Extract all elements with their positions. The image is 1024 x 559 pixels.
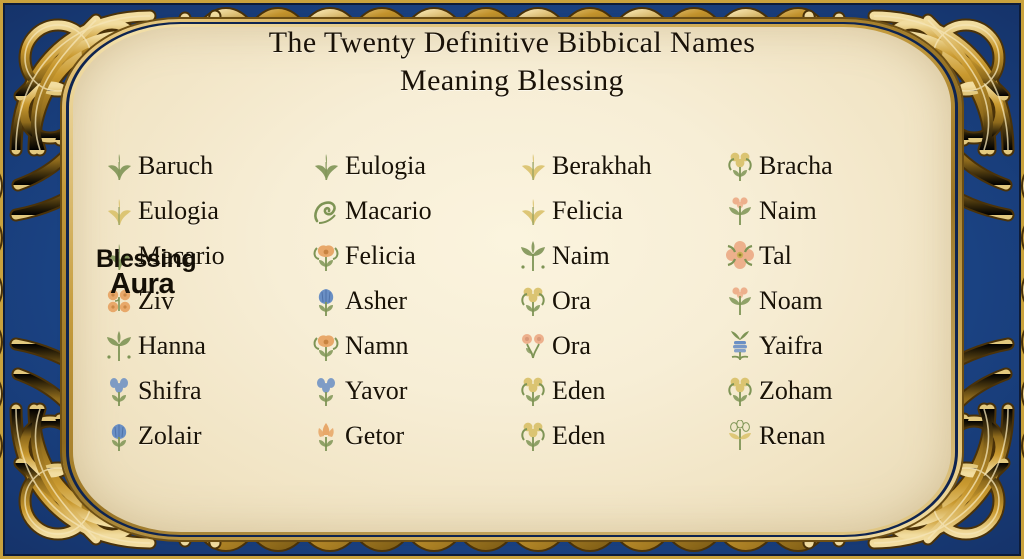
- scroll-leaf-green-icon: [311, 195, 341, 227]
- name-label: Eulogia: [345, 151, 426, 181]
- name-entry: Berakhah: [512, 143, 719, 188]
- title-line-2: Meaning Blessing: [0, 62, 1024, 100]
- blue-tulip-icon: [311, 285, 341, 317]
- gold-bloom-icon: [725, 150, 755, 182]
- name-entry: Tal: [719, 233, 926, 278]
- leaf-sprig-gold-icon: [518, 150, 548, 182]
- thistle-green-icon: [104, 330, 134, 362]
- name-entry: Asher: [305, 278, 512, 323]
- leaf-sprig-green-icon: [104, 150, 134, 182]
- blue-tulip-icon: [104, 420, 134, 452]
- pink-carnation-icon: [725, 285, 755, 317]
- name-label: Naim: [759, 196, 817, 226]
- name-entry: Eulogia: [98, 188, 305, 233]
- name-label: Ora: [552, 286, 591, 316]
- name-entry: Ora: [512, 278, 719, 323]
- leaf-sprig-green-icon: [311, 150, 341, 182]
- bellflower-pale-icon: [311, 375, 341, 407]
- rose-pair-pink-icon: [518, 330, 548, 362]
- name-label: Noam: [759, 286, 823, 316]
- name-entry: Felicia: [305, 233, 512, 278]
- gold-bloom-icon: [518, 285, 548, 317]
- name-entry: Namn: [305, 323, 512, 368]
- name-entry: Shifra: [98, 368, 305, 413]
- name-entry: Yaifra: [719, 323, 926, 368]
- thistle-green-icon: [518, 240, 548, 272]
- peach-rosette-icon: [725, 240, 755, 272]
- name-entry: Bracha: [719, 143, 926, 188]
- name-entry: Hanna: [98, 323, 305, 368]
- name-entry: Macario: [305, 188, 512, 233]
- orange-bloom-icon: [311, 240, 341, 272]
- name-entry: Yavor: [305, 368, 512, 413]
- name-label: Zolair: [138, 421, 202, 451]
- name-label: Baruch: [138, 151, 213, 181]
- name-entry: Ora: [512, 323, 719, 368]
- orange-bloom-icon: [311, 330, 341, 362]
- leaf-sprig-gold-icon: [104, 195, 134, 227]
- orange-lily-icon: [311, 420, 341, 452]
- white-bellflower-icon: [725, 420, 755, 452]
- name-label: Eden: [552, 376, 605, 406]
- name-label: Zoham: [759, 376, 833, 406]
- name-label: Namn: [345, 331, 409, 361]
- name-label: Hanna: [138, 331, 206, 361]
- name-label: Macario: [345, 196, 432, 226]
- bellflower-pale-icon: [104, 375, 134, 407]
- pink-carnation-icon: [725, 195, 755, 227]
- name-entry: Zolair: [98, 413, 305, 458]
- name-label: Asher: [345, 286, 407, 316]
- name-entry: Eden: [512, 368, 719, 413]
- name-entry: Naim: [512, 233, 719, 278]
- name-entry: Noam: [719, 278, 926, 323]
- poster-canvas: The Twenty Definitive Bibbical Names Mea…: [0, 0, 1024, 559]
- name-label: Berakhah: [552, 151, 652, 181]
- blue-banded-bud-icon: [725, 330, 755, 362]
- name-label: Shifra: [138, 376, 202, 406]
- leaf-sprig-gold-icon: [518, 195, 548, 227]
- name-entry: Getor: [305, 413, 512, 458]
- poster-title: The Twenty Definitive Bibbical Names Mea…: [0, 24, 1024, 100]
- watermark-blessing-aura: Blessing Aura: [96, 248, 196, 298]
- name-entry: Renan: [719, 413, 926, 458]
- name-entry: Naim: [719, 188, 926, 233]
- name-label: Ora: [552, 331, 591, 361]
- gold-bloom-icon: [518, 420, 548, 452]
- name-entry: Zoham: [719, 368, 926, 413]
- name-label: Eden: [552, 421, 605, 451]
- name-label: Getor: [345, 421, 404, 451]
- name-label: Felicia: [345, 241, 416, 271]
- watermark-line-2: Aura: [110, 271, 196, 298]
- name-label: Renan: [759, 421, 825, 451]
- name-entry: Baruch: [98, 143, 305, 188]
- name-label: Bracha: [759, 151, 833, 181]
- name-entry: Eulogia: [305, 143, 512, 188]
- name-label: Yavor: [345, 376, 407, 406]
- name-label: Yaifra: [759, 331, 823, 361]
- gold-bloom-icon: [725, 375, 755, 407]
- name-label: Felicia: [552, 196, 623, 226]
- name-label: Naim: [552, 241, 610, 271]
- names-grid: Baruch Eulogia Berakhah Brach: [98, 143, 926, 458]
- name-entry: Eden: [512, 413, 719, 458]
- name-entry: Felicia: [512, 188, 719, 233]
- name-label: Tal: [759, 241, 792, 271]
- name-label: Eulogia: [138, 196, 219, 226]
- title-line-1: The Twenty Definitive Bibbical Names: [0, 24, 1024, 62]
- gold-bloom-icon: [518, 375, 548, 407]
